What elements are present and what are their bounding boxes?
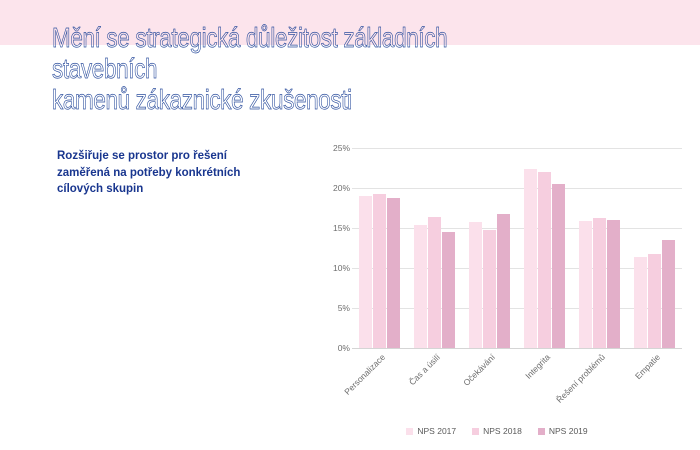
bar[interactable] bbox=[593, 218, 606, 348]
y-axis-tick-label: 5% bbox=[316, 303, 350, 313]
bar[interactable] bbox=[359, 196, 372, 348]
legend-label: NPS 2019 bbox=[549, 426, 588, 436]
x-axis-tick-label: Čas a úsilí bbox=[406, 352, 441, 387]
x-axis-tick-label: Personalizace bbox=[342, 352, 387, 397]
bar[interactable] bbox=[579, 221, 592, 348]
y-axis-tick-label: 0% bbox=[316, 343, 350, 353]
page-title: Mění se strategická důležitost základníc… bbox=[52, 22, 532, 115]
x-axis-tick-label: Empatie bbox=[632, 352, 661, 381]
y-axis-tick-label: 25% bbox=[316, 143, 350, 153]
bar[interactable] bbox=[442, 232, 455, 348]
bar[interactable] bbox=[497, 214, 510, 348]
bar-group bbox=[572, 148, 627, 348]
x-axis-tick-label: Integrita bbox=[523, 352, 552, 381]
x-axis-labels: PersonalizaceČas a úsilíOčekáváníIntegri… bbox=[352, 350, 682, 420]
legend-item[interactable]: NPS 2017 bbox=[406, 426, 456, 436]
legend-label: NPS 2018 bbox=[483, 426, 522, 436]
bar[interactable] bbox=[648, 254, 661, 348]
legend-swatch bbox=[538, 428, 545, 435]
plot-area: 0%5%10%15%20%25% bbox=[312, 148, 682, 348]
bar[interactable] bbox=[662, 240, 675, 348]
legend-label: NPS 2017 bbox=[417, 426, 456, 436]
legend-swatch bbox=[406, 428, 413, 435]
bar[interactable] bbox=[607, 220, 620, 348]
x-axis-label-cell: Řešení problémů bbox=[572, 350, 627, 420]
bar[interactable] bbox=[634, 257, 647, 348]
x-axis-label-cell: Empatie bbox=[627, 350, 682, 420]
legend-swatch bbox=[472, 428, 479, 435]
y-axis-tick-label: 20% bbox=[316, 183, 350, 193]
bar-group bbox=[627, 148, 682, 348]
bar[interactable] bbox=[552, 184, 565, 348]
bars-container bbox=[352, 148, 682, 348]
x-axis-label-cell: Personalizace bbox=[352, 350, 407, 420]
bar-group bbox=[517, 148, 572, 348]
gridline bbox=[352, 348, 682, 349]
x-axis-label-cell: Čas a úsilí bbox=[407, 350, 462, 420]
bar[interactable] bbox=[428, 217, 441, 348]
bar[interactable] bbox=[387, 198, 400, 348]
x-axis-tick-label: Očekávání bbox=[461, 352, 497, 388]
bar-chart: 0%5%10%15%20%25% PersonalizaceČas a úsil… bbox=[312, 148, 682, 438]
bar-group bbox=[462, 148, 517, 348]
bar[interactable] bbox=[469, 222, 482, 348]
slide-canvas: Mění se strategická důležitost základníc… bbox=[0, 0, 700, 450]
bar[interactable] bbox=[538, 172, 551, 348]
legend-item[interactable]: NPS 2019 bbox=[538, 426, 588, 436]
x-axis-label-cell: Integrita bbox=[517, 350, 572, 420]
bar[interactable] bbox=[483, 230, 496, 348]
chart-legend: NPS 2017NPS 2018NPS 2019 bbox=[312, 426, 682, 436]
subtitle-text: Rozšiřuje se prostor pro řešení zaměřená… bbox=[57, 148, 307, 198]
bar-group bbox=[407, 148, 462, 348]
bar[interactable] bbox=[524, 169, 537, 348]
y-axis-tick-label: 15% bbox=[316, 223, 350, 233]
legend-item[interactable]: NPS 2018 bbox=[472, 426, 522, 436]
bar[interactable] bbox=[373, 194, 386, 348]
bar-group bbox=[352, 148, 407, 348]
x-axis-label-cell: Očekávání bbox=[462, 350, 517, 420]
bar[interactable] bbox=[414, 225, 427, 348]
y-axis-tick-label: 10% bbox=[316, 263, 350, 273]
